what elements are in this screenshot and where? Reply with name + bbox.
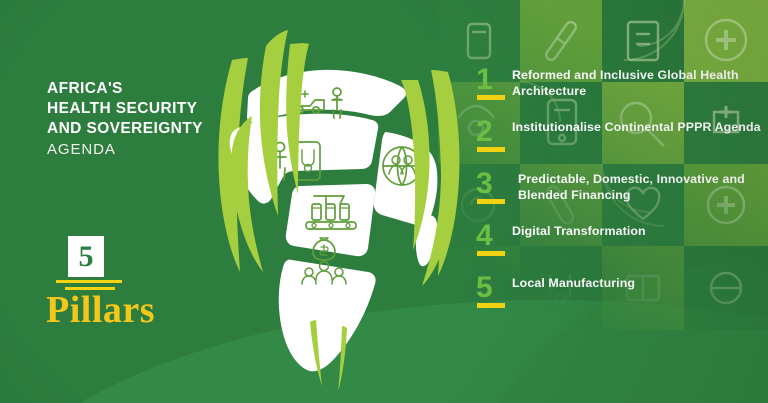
- pillar-item-3[interactable]: 3 Predictable, Domestic, Innovative and …: [476, 170, 768, 222]
- pillars-word: Pillars: [46, 288, 155, 332]
- pillar-number-5: 5: [476, 273, 493, 303]
- pillar-label-3: Predictable, Domestic, Innovative and Bl…: [518, 172, 768, 203]
- pillar-item-4[interactable]: 4 Digital Transformation: [476, 222, 768, 274]
- pillar-item-2[interactable]: 2 Institutionalise Continental PPPR Agen…: [476, 118, 768, 170]
- pillars-rule-top: [56, 280, 122, 283]
- pillars-number: 5: [79, 242, 94, 272]
- pillar-label-1: Reformed and Inclusive Global Health Arc…: [512, 68, 764, 99]
- pillar-number-2: 2: [476, 117, 493, 147]
- pillar-number-3: 3: [476, 169, 493, 199]
- pillar-item-5[interactable]: 5 Local Manufacturing: [476, 274, 768, 326]
- pillar-label-4: Digital Transformation: [512, 224, 764, 240]
- pillar-underline-3: [477, 199, 505, 204]
- pillar-number-4: 4: [476, 221, 493, 251]
- africa-map-illustration: [196, 20, 476, 390]
- pillar-underline-4: [477, 251, 505, 256]
- pillar-item-1[interactable]: 1 Reformed and Inclusive Global Health A…: [476, 66, 768, 118]
- pillars-number-box: 5: [68, 236, 104, 277]
- pillars-list: 1 Reformed and Inclusive Global Health A…: [476, 66, 768, 326]
- pillar-underline-1: [477, 95, 505, 100]
- infographic-poster: AFRICA'S HEALTH SECURITY AND SOVEREIGNTY…: [0, 0, 768, 403]
- pillar-underline-2: [477, 147, 505, 152]
- pillar-underline-5: [477, 303, 505, 308]
- pillar-number-1: 1: [476, 65, 493, 95]
- pillar-label-2: Institutionalise Continental PPPR Agenda: [512, 120, 764, 136]
- pillar-label-5: Local Manufacturing: [512, 276, 764, 292]
